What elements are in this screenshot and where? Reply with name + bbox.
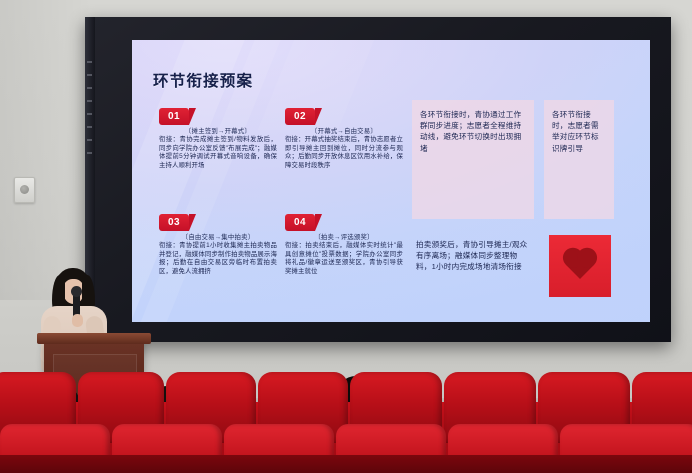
note-signage: 各环节衔接时，志愿者需举对应环节标识牌引导: [544, 100, 614, 219]
card-number-badge-02: 02: [285, 108, 315, 125]
card-head-01: 〔摊主签到→开幕式〕: [159, 126, 277, 135]
screenshot-stage: 环节衔接预案 01 〔摊主签到→开幕式〕 衔接：青协完成摊主签到/物料发放后，同…: [0, 0, 692, 473]
podium-top-surface: [37, 333, 151, 344]
card-number-badge-03: 03: [159, 214, 189, 231]
card-head-02: 〔开幕式→自由交易〕: [285, 126, 403, 135]
slide-card-01: 01 〔摊主签到→开幕式〕 衔接：青协完成摊主签到/物料发放后，同步向学院办公室…: [159, 106, 277, 170]
wall-shadow: [0, 0, 92, 300]
card-body-03: 衔接：青协提前1小时收集摊主拍卖物品并登记，融媒体同步制作拍卖物品展示海报；后勤…: [159, 242, 277, 276]
presenter-hand: [72, 314, 83, 327]
microphone-head-icon: [71, 286, 82, 297]
card-body-02: 衔接：开幕式抽奖结束后，青协志愿者立即引导摊主回到摊位，同时分流参与观众；后勤同…: [285, 136, 403, 170]
card-head-04: 〔拍卖→评选颁奖〕: [285, 232, 403, 241]
heart-badge: [549, 235, 611, 297]
card-body-01: 衔接：青协完成摊主签到/物料发放后，同步向学院办公室反馈"布展完成"；融媒体提前…: [159, 136, 277, 170]
projector-screen-bezel: 环节衔接预案 01 〔摊主签到→开幕式〕 衔接：青协完成摊主签到/物料发放后，同…: [85, 17, 671, 342]
slide-card-04: 04 〔拍卖→评选颁奖〕 衔接：拍卖结束后，融媒体实时统计"最具创意摊位"投票数…: [285, 212, 403, 276]
slide-title: 环节衔接预案: [153, 69, 253, 91]
note-coordination: 各环节衔接时，青协通过工作群同步进度；志愿者全程维持动线，避免环节切换时出现拥堵: [412, 100, 534, 219]
slide-card-03: 03 〔自由交易→集中拍卖〕 衔接：青协提前1小时收集摊主拍卖物品并登记，融媒体…: [159, 212, 277, 276]
bezel-vent-dots-icon: [87, 61, 92, 157]
heart-icon: [566, 251, 594, 279]
front-seat-row-foreground: [0, 455, 692, 473]
note-closing: 拍卖颁奖后，青协引导摊主/观众有序离场；融媒体同步整理物料，1小时内完成场地清场…: [412, 230, 536, 310]
slide-card-02: 02 〔开幕式→自由交易〕 衔接：开幕式抽奖结束后，青协志愿者立即引导摊主回到摊…: [285, 106, 403, 170]
card-number-badge-04: 04: [285, 214, 315, 231]
card-head-03: 〔自由交易→集中拍卖〕: [159, 232, 277, 241]
card-number-badge-01: 01: [159, 108, 189, 125]
card-body-04: 衔接：拍卖结束后，融媒体实时统计"最具创意摊位"投票数据；学院办公室同步将礼品/…: [285, 242, 403, 276]
slide-surface: 环节衔接预案 01 〔摊主签到→开幕式〕 衔接：青协完成摊主签到/物料发放后，同…: [132, 40, 650, 322]
wall-mounted-speaker-icon: [14, 177, 35, 203]
